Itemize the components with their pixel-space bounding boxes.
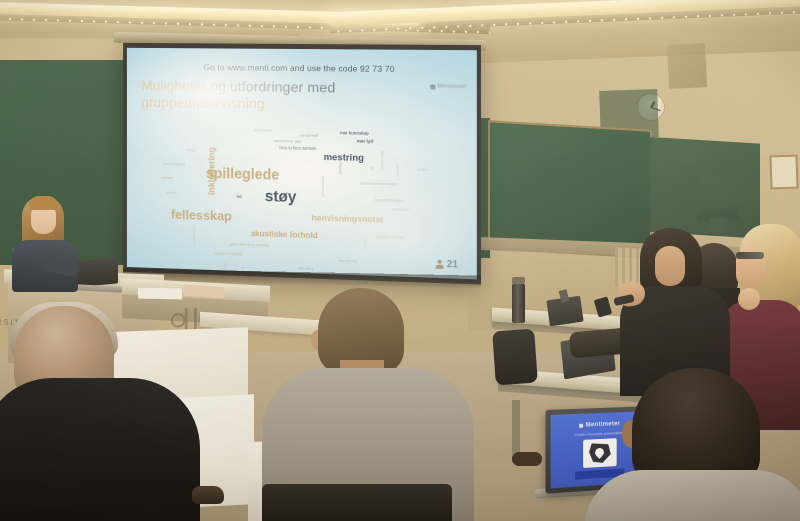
framed-picture: [769, 155, 798, 190]
shoe: [512, 452, 542, 466]
audience-left-body: [0, 378, 200, 521]
wordcloud-word: bedre: [417, 167, 427, 171]
chair-back: [262, 484, 452, 521]
wordcloud-word: støy: [265, 188, 297, 207]
wordcloud-word: utfordring: [297, 266, 314, 272]
wordcloud-word: struktur: [161, 176, 173, 180]
wordcloud-word: inkludering: [207, 147, 217, 195]
wordcloud-word: tilrettelegging: [163, 162, 185, 166]
participant-count: 21: [447, 259, 458, 271]
wordcloud-word: dialog: [166, 190, 176, 194]
wordcloud-word: tid: [236, 194, 241, 199]
slide-title-line2: gruppeundervisning: [141, 94, 264, 112]
slide-title: Muligheter og utfordringer med gruppeund…: [141, 78, 369, 114]
mentimeter-mark-icon: [430, 84, 435, 89]
wordcloud-word: diskutering: [338, 258, 357, 264]
wordcloud-word: henvisningsnotat: [312, 212, 384, 224]
audience-blonde-hand: [738, 288, 760, 310]
papers-stack: [138, 288, 182, 300]
wordcloud-word: fellesskap: [171, 207, 232, 224]
wordcloud-word: akustiske forhold: [251, 229, 318, 240]
slide-title-rest: og utfordringer med: [206, 79, 335, 96]
audience-right-front-face: [655, 246, 685, 286]
classroom-photo: Go to www.menti.com and use the code 92 …: [0, 0, 800, 521]
mentimeter-mark-icon: [580, 423, 584, 427]
wordcloud-word: trivsel: [186, 147, 196, 152]
wordcloud-word: konsentrasjon: [321, 176, 325, 199]
mentimeter-logo-text: Mentimeter: [438, 84, 467, 90]
wordcloud-word: face to face samtale: [279, 145, 316, 151]
wordcloud-word: samhold er gøy: [274, 139, 301, 145]
shoe: [192, 486, 224, 504]
brain-icon: [589, 442, 611, 463]
participant-counter: 21: [435, 259, 458, 271]
chalkboard-right-far: [640, 136, 760, 238]
wordcloud-word: tydelige rammer: [375, 234, 404, 240]
thermos-bottle: [512, 283, 525, 323]
wordcloud-word: nærhet: [395, 164, 399, 176]
wordcloud-word: spilleglede: [206, 166, 279, 184]
wordcloud-word: mer lyd: [357, 139, 374, 144]
laptop-brand-text: Mentimeter: [586, 420, 621, 428]
thermos-cap: [512, 277, 525, 284]
wordcloud-word: redusert lydnivå: [214, 251, 243, 257]
person-icon: [435, 260, 443, 269]
audience-right-fg-head: [632, 368, 760, 484]
chalkboard-left: [0, 60, 138, 265]
wall-vent: [667, 43, 707, 89]
presenter-fringe: [29, 196, 58, 210]
projection-screen: Go to www.menti.com and use the code 92 …: [123, 43, 481, 285]
wordcloud-word: samarbeid: [299, 132, 318, 137]
wordcloud-word: mer tid: [363, 238, 367, 249]
wordcloud-word: fleksibilitet: [392, 208, 409, 213]
wordcloud-word: gjøre flere ting samtidig: [229, 241, 270, 247]
wordcloud-word: ro: [370, 166, 375, 170]
menti-code-instruction: Go to www.menti.com and use the code 92 …: [127, 62, 477, 75]
wordcloud-word: mestring: [324, 152, 364, 164]
mentimeter-logo: Mentimeter: [430, 83, 466, 90]
backpack: [492, 329, 538, 386]
wordcloud-word: bedre kommunikasjon: [360, 182, 398, 187]
laptop-illustration-card: [583, 438, 617, 468]
wordcloud-word: kommunikasjon: [375, 198, 405, 204]
wordcloud-word: motivasjon: [254, 128, 272, 132]
wordcloud-word: mindre støy: [381, 150, 385, 170]
slide-title-accent: Muligheter: [141, 78, 206, 95]
glasses-icon: [736, 252, 764, 259]
slide-surface: Go to www.menti.com and use the code 92 …: [127, 48, 477, 279]
wordcloud-word: mer kunnskap: [340, 130, 369, 136]
word-cloud: spillegledestøyfellesskapmestringakustis…: [127, 120, 477, 261]
wordcloud-word: læring: [338, 162, 343, 174]
wordcloud-word: engasjement: [193, 226, 197, 246]
audience-right-fg-body: [584, 470, 800, 521]
